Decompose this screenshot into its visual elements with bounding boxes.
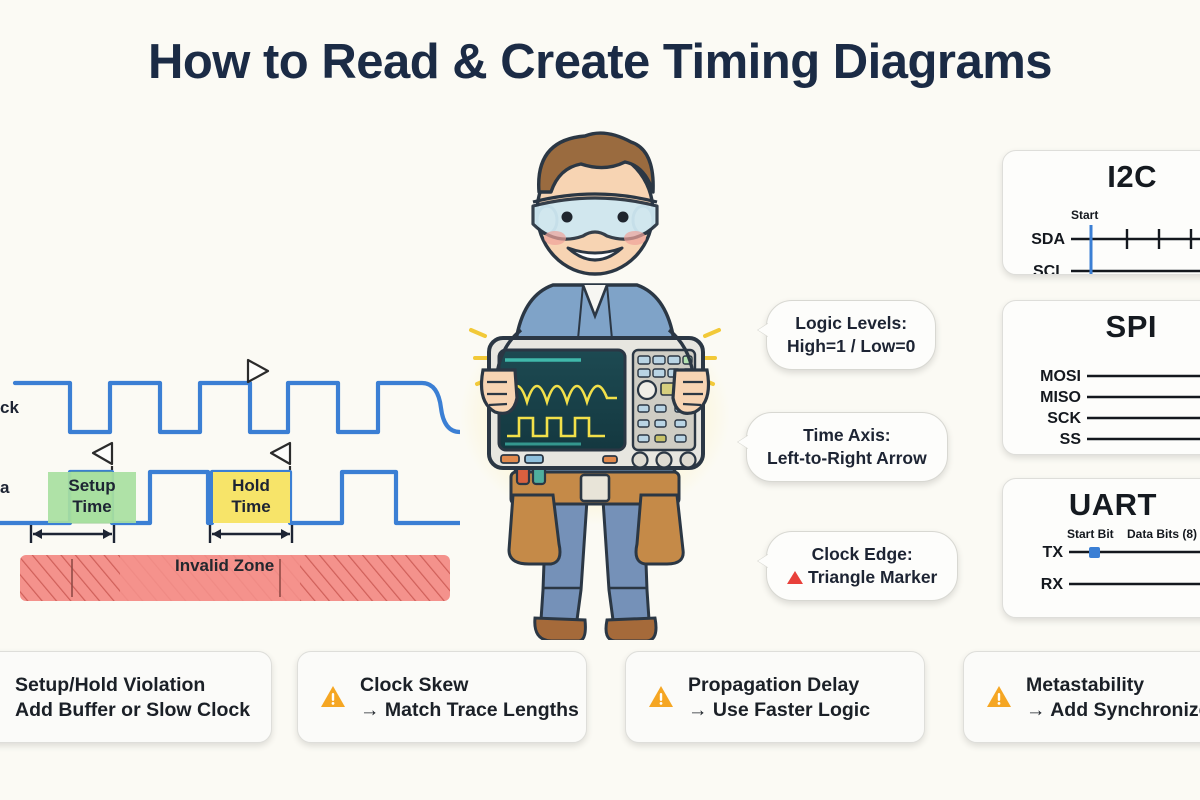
callout-line1: Logic Levels: (787, 312, 915, 335)
invalid-zone-label: Invalid Zone (175, 556, 274, 576)
warning-remedy: Add Buffer or Slow Clock (15, 699, 250, 722)
warning-title: Clock Skew (360, 672, 579, 699)
callout-line1: Time Axis: (767, 424, 927, 447)
warning-title: Setup/Hold Violation (15, 672, 250, 699)
pin-label-miso: MISO (1040, 389, 1081, 406)
marker-label-data-bits: Data Bits (8) (1127, 527, 1197, 541)
warning-card-clock-skew[interactable]: Clock Skew → Match Trace Lengths (297, 651, 587, 743)
callout-line1: Clock Edge: (787, 543, 937, 566)
setup-time-label-2: Time (72, 497, 111, 516)
callout-tail (738, 435, 749, 449)
triangle-marker-icon (787, 571, 803, 584)
pin-label-scl: SCL (1033, 263, 1065, 275)
warning-remedy: → Match Trace Lengths (360, 699, 579, 722)
marker-label-start-bit: Start Bit (1067, 527, 1114, 541)
warning-remedy: → Use Faster Logic (688, 699, 870, 722)
callout-tail (758, 323, 769, 337)
character-head (533, 133, 657, 274)
callout-line2: Triangle Marker (808, 567, 937, 587)
callout-line2: High=1 / Low=0 (787, 335, 915, 358)
warning-triangle-icon (648, 684, 674, 710)
callout-logic-levels: Logic Levels: High=1 / Low=0 (766, 300, 936, 370)
hold-time-label-1: Hold (232, 476, 270, 495)
callout-line2-row: Triangle Marker (787, 566, 937, 589)
warning-title: Propagation Delay (688, 672, 870, 699)
warning-card-setup-hold-violation[interactable]: Setup/Hold Violation Add Buffer or Slow … (0, 651, 272, 743)
hold-time-label-2: Time (231, 497, 270, 516)
protocol-panel-uart: UART TX RX Start Bit Data Bits (8) (1002, 478, 1200, 618)
warning-card-propagation-delay[interactable]: Propagation Delay → Use Faster Logic (625, 651, 925, 743)
pin-label-mosi: MOSI (1040, 368, 1081, 385)
protocol-panel-i2c: I2C SDA SCL Start (1002, 150, 1200, 275)
warning-triangle-icon (0, 684, 1, 710)
callout-tail (758, 554, 769, 568)
hold-dimension-arrow (210, 525, 292, 543)
clock-waveform (15, 383, 460, 432)
protocol-panel-spi: SPI MOSI MISO SCK SS (1002, 300, 1200, 455)
pin-label-ss: SS (1060, 431, 1082, 448)
pin-label-tx: TX (1043, 544, 1064, 561)
warning-triangle-icon (320, 684, 346, 710)
pin-label-sda: SDA (1031, 231, 1065, 248)
callout-time-axis: Time Axis: Left-to-Right Arrow (746, 412, 948, 482)
page-title: How to Read & Create Timing Diagrams (0, 34, 1200, 90)
setup-time-label-1: Setup (68, 476, 115, 495)
warning-triangle-icon (986, 684, 1012, 710)
marker-label-start: Start (1071, 208, 1098, 222)
warning-remedy: → Add Synchronizer (1026, 699, 1200, 722)
pin-label-rx: RX (1041, 576, 1064, 593)
setup-time-box: Setup Time (48, 472, 136, 523)
warning-title: Metastability (1026, 672, 1200, 699)
clock-edge-marker-top (248, 360, 268, 382)
setup-dimension-arrow (31, 525, 114, 543)
callout-clock-edge: Clock Edge: Triangle Marker (766, 531, 958, 601)
callout-line2: Left-to-Right Arrow (767, 447, 927, 470)
warning-card-metastability[interactable]: Metastability → Add Synchronizer (963, 651, 1200, 743)
pin-label-sck: SCK (1047, 410, 1081, 427)
hold-time-box: Hold Time (213, 472, 290, 523)
technician-character (455, 120, 735, 640)
